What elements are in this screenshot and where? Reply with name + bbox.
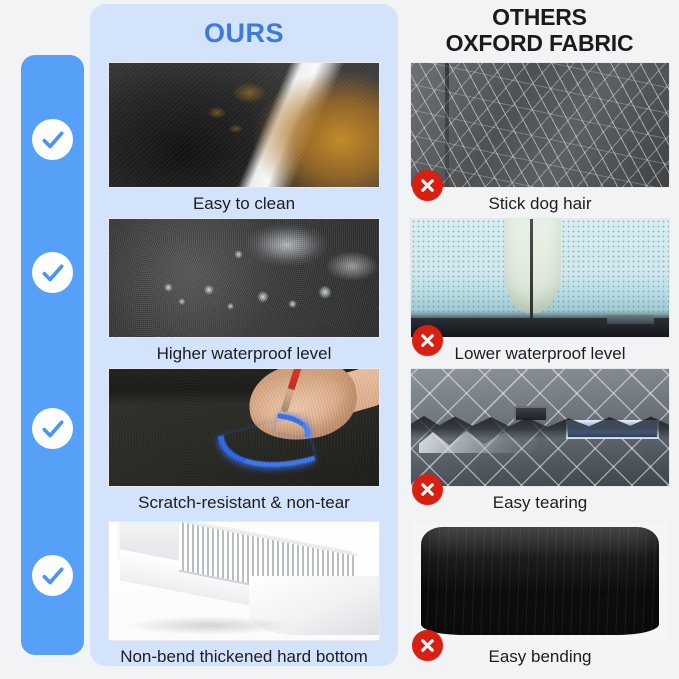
bending-slab [421,527,658,636]
ours-item-1: Easy to clean [108,62,380,217]
others-item-4: Easy bending [410,521,670,670]
others-item-3-caption: Easy tearing [410,487,670,516]
ours-title: OURS [90,18,398,49]
others-item-2-caption: Lower waterproof level [410,338,670,367]
others-item-1: Stick dog hair [410,62,670,217]
others-title-line2: OXFORD FABRIC [400,30,679,56]
ours-item-2-caption: Higher waterproof level [108,338,380,367]
check-circle-icon-1 [32,119,73,160]
others-title-line1: OTHERS [400,4,679,30]
others-item-4-caption: Easy bending [410,641,670,670]
check-circle-icon-2 [32,252,73,293]
ours-item-3-caption: Scratch-resistant & non-tear [108,487,380,516]
others-item-3: Easy tearing [410,368,670,516]
check-circle-icon-4 [32,555,73,596]
fabric-fold-line [530,219,533,320]
black-bending-material-photo [410,521,670,641]
leather-water-jet-stain-photo [108,62,380,188]
ours-item-3: Scratch-resistant & non-tear [108,368,380,516]
board-shadow [125,616,292,635]
others-item-2: Lower waterproof level [410,218,670,367]
ours-item-2: Higher waterproof level [108,218,380,367]
x-circle-icon-4 [412,630,443,661]
x-circle-icon-2 [412,325,443,356]
grey-fabric-with-hair-photo [410,62,670,188]
comparison-infographic: OURS OTHERS OXFORD FABRIC Easy to clean … [0,0,679,679]
ours-item-4-caption: Non-bend thickened hard bottom [108,641,380,670]
hand-key-scratch-test-photo [108,368,380,487]
others-item-1-caption: Stick dog hair [410,188,670,217]
others-title: OTHERS OXFORD FABRIC [400,4,679,56]
water-beads-on-fabric-photo [108,218,380,338]
corrugated-hard-board-photo [108,521,380,641]
ground-strip [607,315,653,324]
leaking-pale-fabric-photo [410,218,670,338]
x-circle-icon-3 [412,474,443,505]
torn-quilted-fabric-photo [410,368,670,487]
ours-item-4: Non-bend thickened hard bottom [108,521,380,670]
x-circle-icon-1 [412,170,443,201]
check-circle-icon-3 [32,408,73,449]
ours-item-1-caption: Easy to clean [108,188,380,217]
